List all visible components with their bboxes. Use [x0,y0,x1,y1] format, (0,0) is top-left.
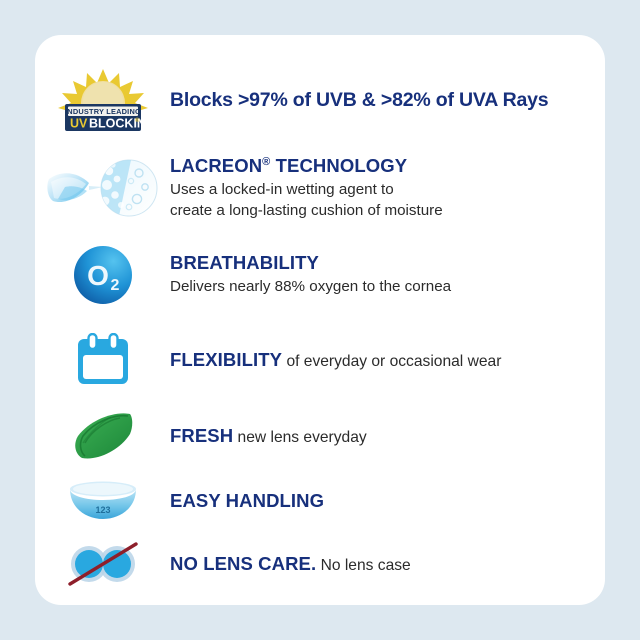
text-cell-fresh: FRESH new lens everyday [170,424,605,448]
lacreon-subtext: Uses a locked-in wetting agent to create… [170,180,587,220]
o2-label-main: O [87,260,109,291]
text-cell-uv: Blocks >97% of UVB & >82% of UVA Rays [170,89,605,111]
lacreon-title: LACREON® TECHNOLOGY [170,155,587,177]
o2-circle-icon: O 2 [73,245,133,305]
svg-text:UV: UV [70,117,88,131]
leaf-icon [70,410,136,462]
fresh-title: FRESH [170,425,233,446]
breathability-title: BREATHABILITY [170,252,587,274]
text-cell-easy-handling: EASY HANDLING [170,489,605,513]
page-background: INDUSTRY LEADING UV BLOCKING ® Blocks >9… [0,0,640,640]
svg-text:BLOCKING: BLOCKING [89,117,149,131]
svg-text:INDUSTRY LEADING: INDUSTRY LEADING [65,107,141,116]
no-lens-care-title: NO LENS CARE. [170,553,316,574]
icon-cell-fresh [35,410,170,462]
lens-droplet-molecule-icon [45,157,161,219]
lacreon-title-suffix: TECHNOLOGY [270,155,407,176]
icon-cell-breathability: O 2 [35,245,170,305]
feature-row-easy-handling: 123 EASY HANDLING [35,469,605,533]
text-cell-flexibility: FLEXIBILITY of everyday or occasional we… [170,348,605,372]
lacreon-subtext-line1: Uses a locked-in wetting agent to [170,180,587,200]
uv-headline: Blocks >97% of UVB & >82% of UVA Rays [170,89,587,111]
no-lens-case-crossed-icon [67,541,139,587]
feature-row-no-lens-care: NO LENS CARE. No lens case [35,531,605,597]
contact-lens-bowl-icon: 123 [68,480,138,522]
svg-text:®: ® [135,117,140,124]
icon-cell-no-lens-care [35,541,170,587]
lens-number-label: 123 [95,505,110,515]
text-cell-breathability: BREATHABILITY Delivers nearly 88% oxygen… [170,252,605,297]
feature-row-uv-blocking: INDUSTRY LEADING UV BLOCKING ® Blocks >9… [35,61,605,139]
feature-row-lacreon: LACREON® TECHNOLOGY Uses a locked-in wet… [35,145,605,231]
feature-row-fresh: FRESH new lens everyday [35,401,605,471]
feature-row-breathability: O 2 BREATHABILITY Delivers nearly 88% ox… [35,235,605,315]
calendar-icon [74,333,132,387]
lacreon-title-main: LACREON [170,155,262,176]
feature-row-flexibility: FLEXIBILITY of everyday or occasional we… [35,323,605,397]
icon-cell-uv: INDUSTRY LEADING UV BLOCKING ® [35,67,170,133]
uv-blocking-sun-badge-icon: INDUSTRY LEADING UV BLOCKING ® [57,67,149,133]
lacreon-subtext-line2: create a long-lasting cushion of moistur… [170,201,587,221]
flexibility-title: FLEXIBILITY [170,349,282,370]
fresh-line: FRESH new lens everyday [170,424,587,448]
o2-label-sub: 2 [110,277,119,294]
feature-card: INDUSTRY LEADING UV BLOCKING ® Blocks >9… [35,35,605,605]
no-lens-care-rest: No lens case [316,557,410,574]
text-cell-no-lens-care: NO LENS CARE. No lens case [170,552,605,576]
fresh-rest: new lens everyday [233,429,366,446]
breathability-subtext: Delivers nearly 88% oxygen to the cornea [170,277,587,297]
easy-handling-line: EASY HANDLING [170,489,587,513]
no-lens-care-line: NO LENS CARE. No lens case [170,552,587,576]
icon-cell-easy-handling: 123 [35,480,170,522]
easy-handling-title: EASY HANDLING [170,490,324,511]
icon-cell-flexibility [35,333,170,387]
flexibility-line: FLEXIBILITY of everyday or occasional we… [170,348,587,372]
flexibility-rest: of everyday or occasional wear [282,353,501,370]
icon-cell-lacreon [35,157,170,219]
text-cell-lacreon: LACREON® TECHNOLOGY Uses a locked-in wet… [170,155,605,221]
